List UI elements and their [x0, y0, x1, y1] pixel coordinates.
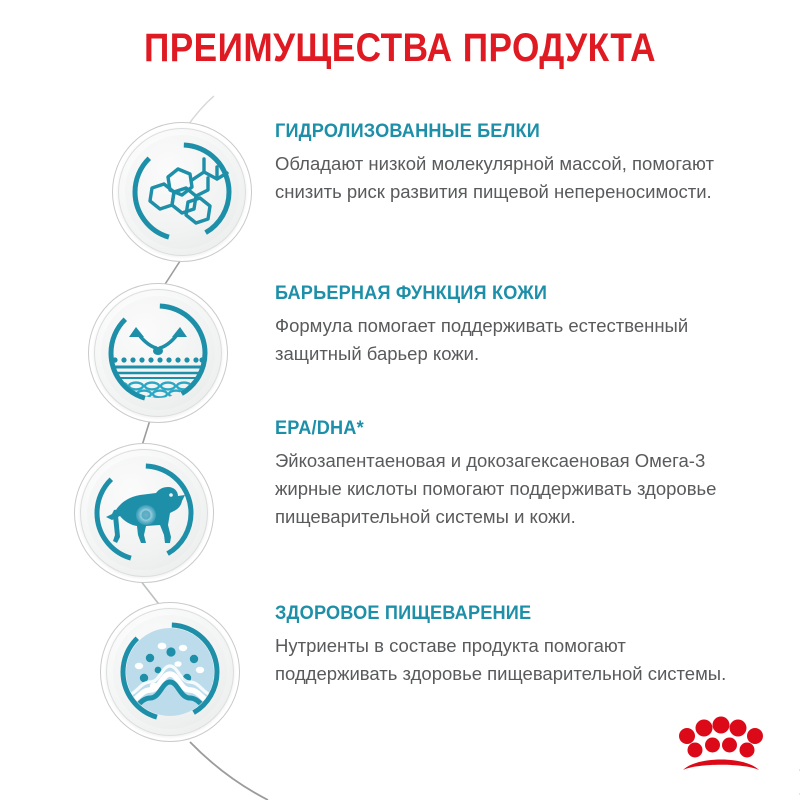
- dog-digestive-icon: [84, 453, 204, 573]
- benefit-icon-1: [88, 283, 228, 423]
- page-title: ПРЕИМУЩЕСТВА ПРОДУКТА: [48, 26, 752, 71]
- benefit-block-0: ГИДРОЛИЗОВАННЫЕ БЕЛКИ Обладают низкой мо…: [275, 120, 753, 206]
- benefit-icon-2: [74, 443, 214, 583]
- product-benefits-page: ПРЕИМУЩЕСТВА ПРОДУКТА: [0, 0, 800, 800]
- benefit-title-2: EPA/DHA*: [275, 417, 720, 440]
- benefit-title-0: ГИДРОЛИЗОВАННЫЕ БЕЛКИ: [275, 120, 720, 143]
- benefit-block-3: ЗДОРОВОЕ ПИЩЕВАРЕНИЕ Нутриенты в составе…: [275, 602, 753, 688]
- benefit-title-1: БАРЬЕРНАЯ ФУНКЦИЯ КОЖИ: [275, 282, 720, 305]
- benefit-body-0: Обладают низкой молекулярной массой, пом…: [275, 150, 753, 206]
- benefit-body-2: Эйкозапентаеновая и докозагексаеновая Ом…: [275, 447, 753, 531]
- molecule-icon: [122, 132, 242, 252]
- benefit-body-3: Нутриенты в составе продукта помогают по…: [275, 632, 753, 688]
- benefit-block-2: EPA/DHA* Эйкозапентаеновая и докозагекса…: [275, 417, 753, 531]
- skin-barrier-icon: [98, 293, 218, 413]
- benefit-body-1: Формула помогает поддерживать естественн…: [275, 312, 753, 368]
- royal-canin-crown-logo: [675, 706, 767, 778]
- digestion-waves-icon: [110, 612, 230, 732]
- benefit-icon-0: [112, 122, 252, 262]
- benefit-block-1: БАРЬЕРНАЯ ФУНКЦИЯ КОЖИ Формула помогает …: [275, 282, 753, 368]
- benefit-title-3: ЗДОРОВОЕ ПИЩЕВАРЕНИЕ: [275, 602, 720, 625]
- benefit-icon-3: [100, 602, 240, 742]
